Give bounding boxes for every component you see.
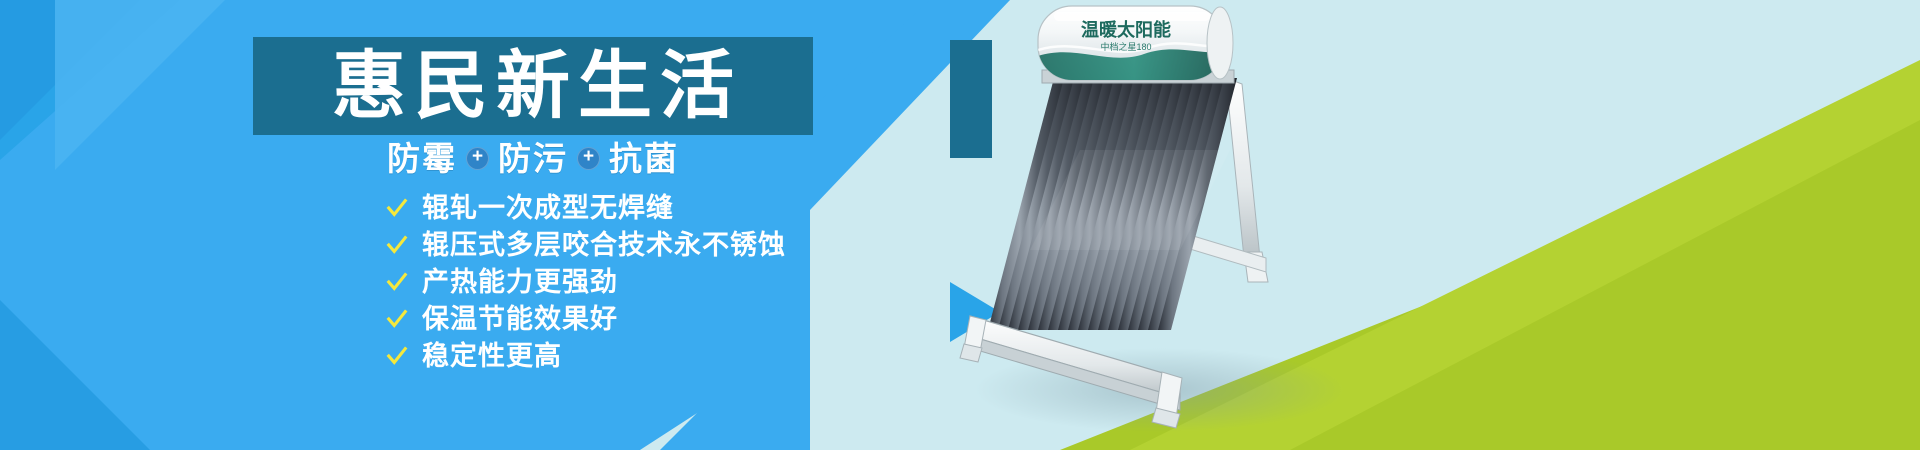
tank-end-cap	[1207, 7, 1233, 79]
evacuated-tube-array	[988, 78, 1237, 330]
check-icon	[386, 271, 408, 293]
plus-badge-icon-2: +	[577, 147, 600, 170]
feature-list: 辊轧一次成型无焊缝 辊压式多层咬合技术永不锈蚀 产热能力更强劲 保温节能效果好	[386, 193, 786, 371]
check-icon	[386, 308, 408, 330]
subtitle-word-1: 防霉	[387, 142, 457, 175]
plus-symbol: +	[472, 147, 483, 166]
list-item: 保温节能效果好	[386, 304, 786, 334]
feature-label: 辊轧一次成型无焊缝	[422, 193, 674, 223]
feature-label: 保温节能效果好	[422, 304, 618, 334]
check-icon	[386, 197, 408, 219]
plus-symbol-2: +	[583, 147, 594, 166]
list-item: 辊压式多层咬合技术永不锈蚀	[386, 230, 786, 260]
subtitle-word-3: 抗菌	[609, 142, 679, 175]
product-model-text: 中档之星180	[1100, 41, 1151, 52]
subtitle-row: 防霉 + 防污 + 抗菌	[253, 142, 813, 175]
list-item: 产热能力更强劲	[386, 267, 786, 297]
page-title: 惠民新生活	[324, 49, 742, 123]
list-item: 辊轧一次成型无焊缝	[386, 193, 786, 223]
water-tank: 温暖太阳能 中档之星180	[1038, 6, 1233, 82]
plus-badge-icon: +	[466, 147, 489, 170]
list-item: 稳定性更高	[386, 341, 786, 371]
check-icon	[386, 234, 408, 256]
product-image: 温暖太阳能 中档之星180	[930, 0, 1450, 450]
promo-banner: 惠民新生活 防霉 + 防污 + 抗菌 辊轧一次成型无焊缝 辊压式多层咬合技术永不…	[0, 0, 1920, 450]
title-band: 惠民新生活	[253, 37, 813, 135]
subtitle-word-2: 防污	[498, 142, 568, 175]
product-brand-text: 温暖太阳能	[1081, 19, 1171, 40]
feature-label: 辊压式多层咬合技术永不锈蚀	[422, 230, 786, 260]
solar-water-heater-illustration: 温暖太阳能 中档之星180	[930, 0, 1450, 450]
feature-label: 稳定性更高	[422, 341, 562, 371]
check-icon	[386, 345, 408, 367]
feature-label: 产热能力更强劲	[422, 267, 618, 297]
